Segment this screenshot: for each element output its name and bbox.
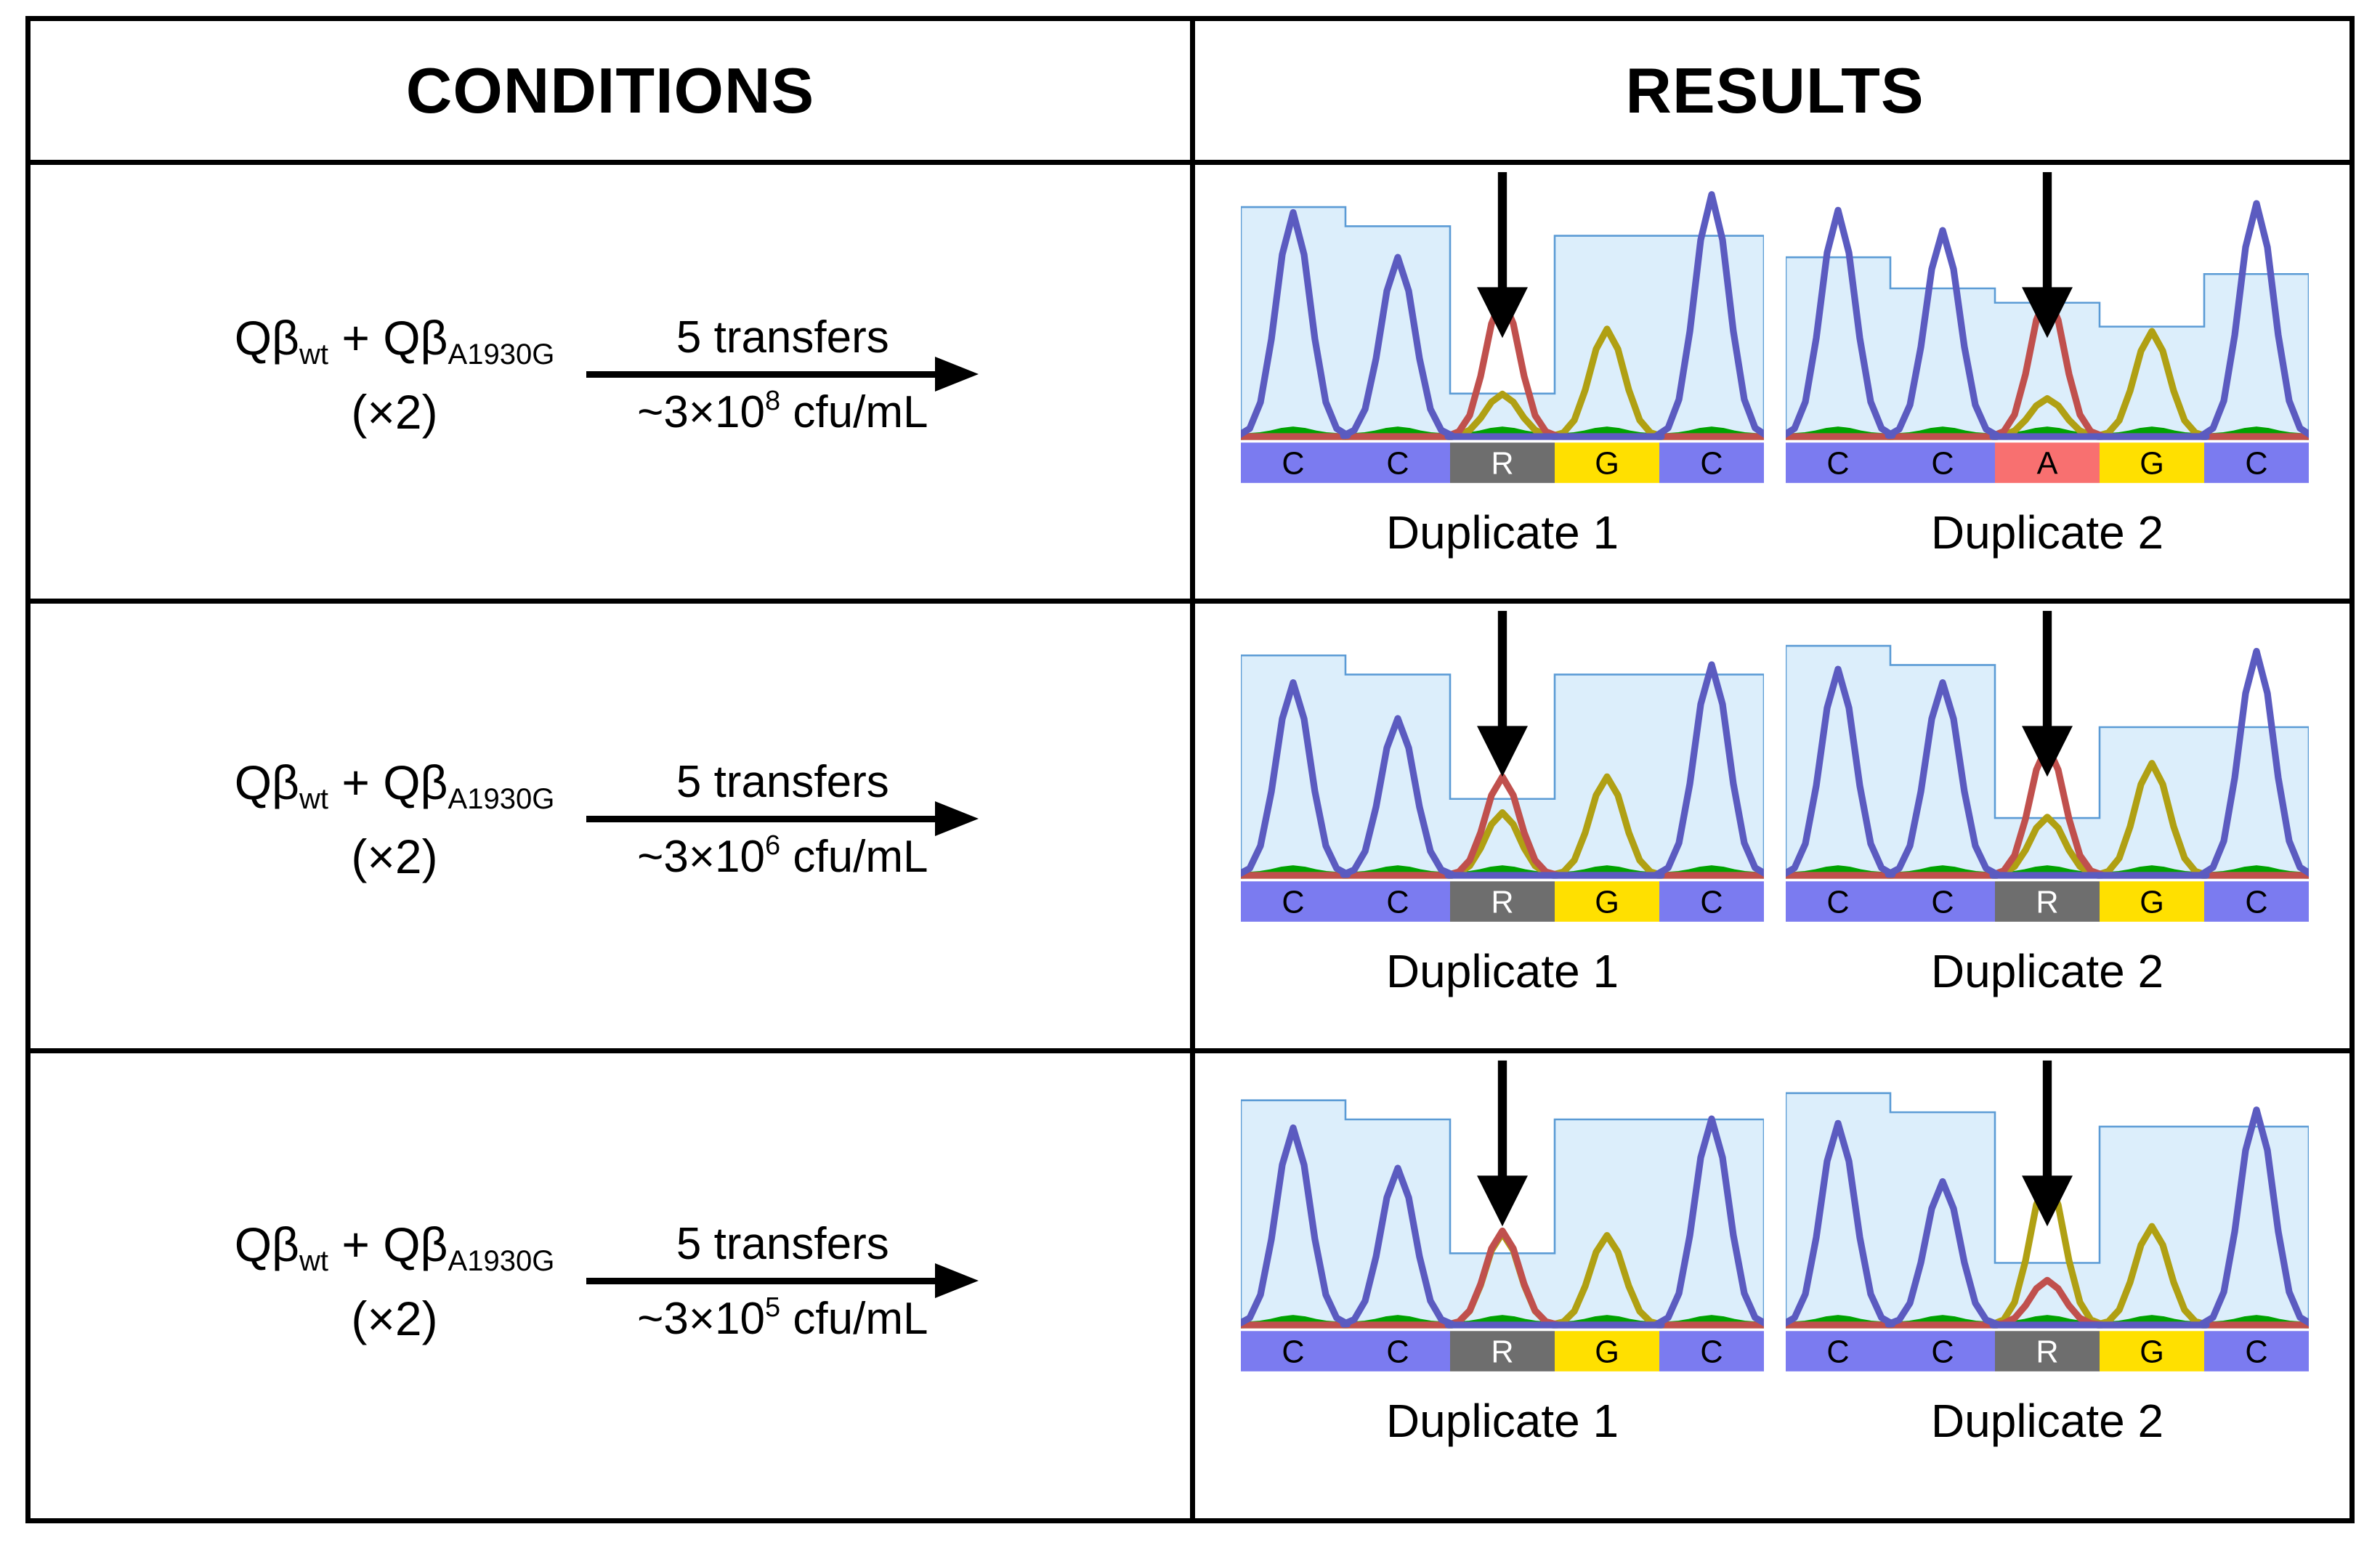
chromatogram-plot: CCRGC — [1241, 1048, 1764, 1390]
svg-text:G: G — [2140, 886, 2164, 920]
replicate-count: (×2) — [351, 1294, 437, 1342]
strain-b: QβA1930G — [383, 1217, 554, 1271]
plus-sign: + — [328, 311, 383, 365]
reaction-arrow-group: 5 transfers~3×105 cfu/mL — [579, 1218, 986, 1345]
results-cell-1: CCRGCDuplicate 1CCAGCDuplicate 2 — [1195, 160, 2355, 599]
svg-text:C: C — [1826, 1335, 1849, 1370]
replicate-count: (×2) — [351, 388, 437, 436]
svg-text:C: C — [1931, 886, 1954, 920]
svg-text:R: R — [1491, 886, 1513, 920]
conditions-header: CONDITIONS — [31, 21, 1190, 160]
chromatogram-panel: CCRGCDuplicate 1 — [1241, 160, 1764, 559]
condition-cell-3: Qβwt + QβA1930G(×2)5 transfers~3×105 cfu… — [31, 1048, 1190, 1523]
svg-text:C: C — [1282, 886, 1304, 920]
chromatogram-panel: CCRGCDuplicate 2 — [1786, 1048, 2309, 1448]
chromatogram-panel: CCRGCDuplicate 2 — [1786, 599, 2309, 998]
svg-text:C: C — [2245, 886, 2267, 920]
strain-a: Qβwt — [235, 755, 328, 809]
chromatogram-plot: CCRGC — [1241, 599, 1764, 940]
conditions-header-label: CONDITIONS — [406, 54, 814, 128]
strain-line: Qβwt + QβA1930G — [235, 314, 555, 362]
results-table: CONDITIONS RESULTS Qβwt + QβA1930G(×2)5 … — [25, 16, 2355, 1523]
results-cell-3: CCRGCDuplicate 1CCRGCDuplicate 2 — [1195, 1048, 2355, 1523]
svg-text:C: C — [1282, 447, 1304, 482]
results-cell-2: CCRGCDuplicate 1CCRGCDuplicate 2 — [1195, 599, 2355, 1048]
svg-text:C: C — [2245, 1335, 2267, 1370]
reaction-arrow-group: 5 transfers~3×106 cfu/mL — [579, 756, 986, 883]
arrow-above-label: 5 transfers — [676, 312, 889, 363]
svg-text:C: C — [1700, 886, 1723, 920]
strain-mix: Qβwt + QβA1930G(×2) — [235, 1220, 555, 1342]
svg-text:G: G — [2140, 447, 2164, 482]
condition-cell-2: Qβwt + QβA1930G(×2)5 transfers~3×106 cfu… — [31, 599, 1190, 1048]
svg-text:C: C — [2245, 447, 2267, 482]
svg-text:C: C — [1931, 447, 1954, 482]
svg-text:G: G — [1595, 886, 1619, 920]
chromatogram-plot: CCRGC — [1241, 160, 1764, 501]
chromatogram-plot: CCRGC — [1786, 599, 2309, 940]
arrow-icon — [586, 811, 979, 827]
strain-b: QβA1930G — [383, 311, 554, 365]
svg-text:C: C — [1386, 447, 1409, 482]
svg-text:G: G — [1595, 1335, 1619, 1370]
plus-sign: + — [328, 1217, 383, 1271]
figure-root: CONDITIONS RESULTS Qβwt + QβA1930G(×2)5 … — [0, 0, 2380, 1556]
results-header-label: RESULTS — [1625, 54, 1924, 128]
duplicate-label: Duplicate 2 — [1931, 944, 2164, 998]
duplicate-label: Duplicate 2 — [1931, 506, 2164, 559]
svg-text:C: C — [1386, 886, 1409, 920]
svg-text:G: G — [1595, 447, 1619, 482]
strain-line: Qβwt + QβA1930G — [235, 758, 555, 806]
arrow-icon — [586, 366, 979, 382]
strain-mix: Qβwt + QβA1930G(×2) — [235, 758, 555, 880]
duplicate-label: Duplicate 1 — [1386, 1394, 1619, 1448]
arrow-below-label: ~3×106 cfu/mL — [637, 831, 928, 883]
svg-text:A: A — [2037, 447, 2058, 482]
svg-text:C: C — [1826, 447, 1849, 482]
arrow-above-label: 5 transfers — [676, 1218, 889, 1270]
strain-b-subscript: A1930G — [448, 783, 555, 815]
strain-b-subscript: A1930G — [448, 339, 555, 370]
chromatogram-panel: CCRGCDuplicate 1 — [1241, 1048, 1764, 1448]
svg-text:C: C — [1931, 1335, 1954, 1370]
svg-text:C: C — [1700, 447, 1723, 482]
arrow-below-label: ~3×108 cfu/mL — [637, 386, 928, 438]
chromatogram-panel: CCAGCDuplicate 2 — [1786, 160, 2309, 559]
svg-text:R: R — [2036, 1335, 2058, 1370]
chromatogram-plot: CCAGC — [1786, 160, 2309, 501]
strain-a: Qβwt — [235, 1217, 328, 1271]
svg-text:R: R — [1491, 447, 1513, 482]
arrow-above-label: 5 transfers — [676, 756, 889, 808]
strain-a-subscript: wt — [299, 339, 328, 370]
exponent: 6 — [765, 830, 780, 861]
exponent: 8 — [765, 386, 780, 416]
reaction-arrow-group: 5 transfers~3×108 cfu/mL — [579, 312, 986, 438]
strain-a-subscript: wt — [299, 1245, 328, 1277]
chromatogram-panel: CCRGCDuplicate 1 — [1241, 599, 1764, 998]
svg-text:C: C — [1826, 886, 1849, 920]
strain-a: Qβwt — [235, 311, 328, 365]
strain-b-subscript: A1930G — [448, 1245, 555, 1277]
svg-text:C: C — [1282, 1335, 1304, 1370]
duplicate-label: Duplicate 2 — [1931, 1394, 2164, 1448]
column-divider — [1190, 21, 1195, 1518]
strain-b: QβA1930G — [383, 755, 554, 809]
duplicate-label: Duplicate 1 — [1386, 944, 1619, 998]
chromatogram-plot: CCRGC — [1786, 1048, 2309, 1390]
exponent: 5 — [765, 1292, 780, 1323]
strain-line: Qβwt + QβA1930G — [235, 1220, 555, 1268]
duplicate-label: Duplicate 1 — [1386, 506, 1619, 559]
svg-text:G: G — [2140, 1335, 2164, 1370]
svg-text:C: C — [1386, 1335, 1409, 1370]
svg-text:C: C — [1700, 1335, 1723, 1370]
strain-a-subscript: wt — [299, 783, 328, 815]
svg-text:R: R — [2036, 886, 2058, 920]
svg-text:R: R — [1491, 1335, 1513, 1370]
arrow-icon — [586, 1273, 979, 1289]
condition-cell-1: Qβwt + QβA1930G(×2)5 transfers~3×108 cfu… — [31, 160, 1190, 599]
arrow-below-label: ~3×105 cfu/mL — [637, 1293, 928, 1345]
strain-mix: Qβwt + QβA1930G(×2) — [235, 314, 555, 436]
results-header: RESULTS — [1195, 21, 2355, 160]
plus-sign: + — [328, 755, 383, 809]
replicate-count: (×2) — [351, 832, 437, 880]
